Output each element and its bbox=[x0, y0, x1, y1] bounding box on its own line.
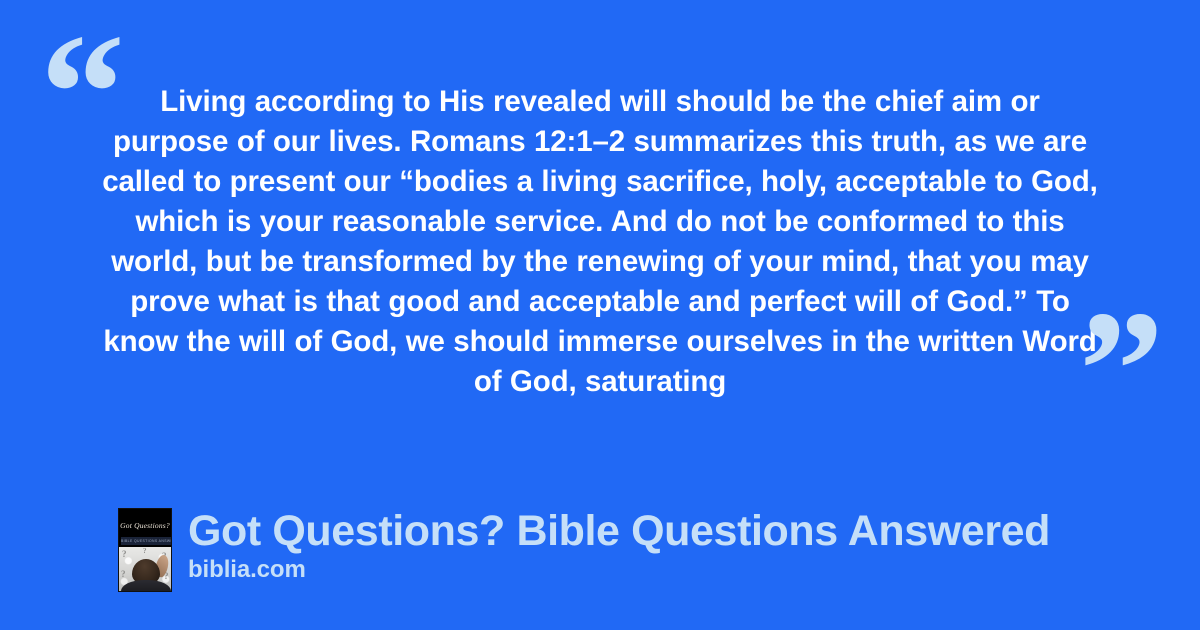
question-mark-icon: ? bbox=[122, 549, 127, 559]
quote-text: Living according to His revealed will sh… bbox=[100, 82, 1100, 402]
site-name: Got Questions? Bible Questions Answered bbox=[188, 508, 1050, 554]
question-mark-icon: ? bbox=[143, 547, 147, 555]
footer-text-group: Got Questions? Bible Questions Answered … bbox=[188, 508, 1050, 584]
quote-block: Living according to His revealed will sh… bbox=[100, 82, 1100, 402]
site-thumbnail-icon: Got Questions? BIBLE QUESTIONS ANSWERED … bbox=[118, 508, 172, 592]
question-mark-icon: ? bbox=[121, 569, 126, 579]
site-url[interactable]: biblia.com bbox=[188, 556, 1050, 584]
closing-quote-icon: ” bbox=[1079, 285, 1162, 455]
thumbnail-photo: ? ? ? ? ? bbox=[119, 547, 171, 592]
quote-card: “ Living according to His revealed will … bbox=[0, 0, 1200, 630]
footer-branding: Got Questions? BIBLE QUESTIONS ANSWERED … bbox=[118, 508, 1050, 592]
thumbnail-title: Got Questions? bbox=[119, 521, 171, 530]
thumbnail-subtitle: BIBLE QUESTIONS ANSWERED bbox=[121, 537, 171, 545]
